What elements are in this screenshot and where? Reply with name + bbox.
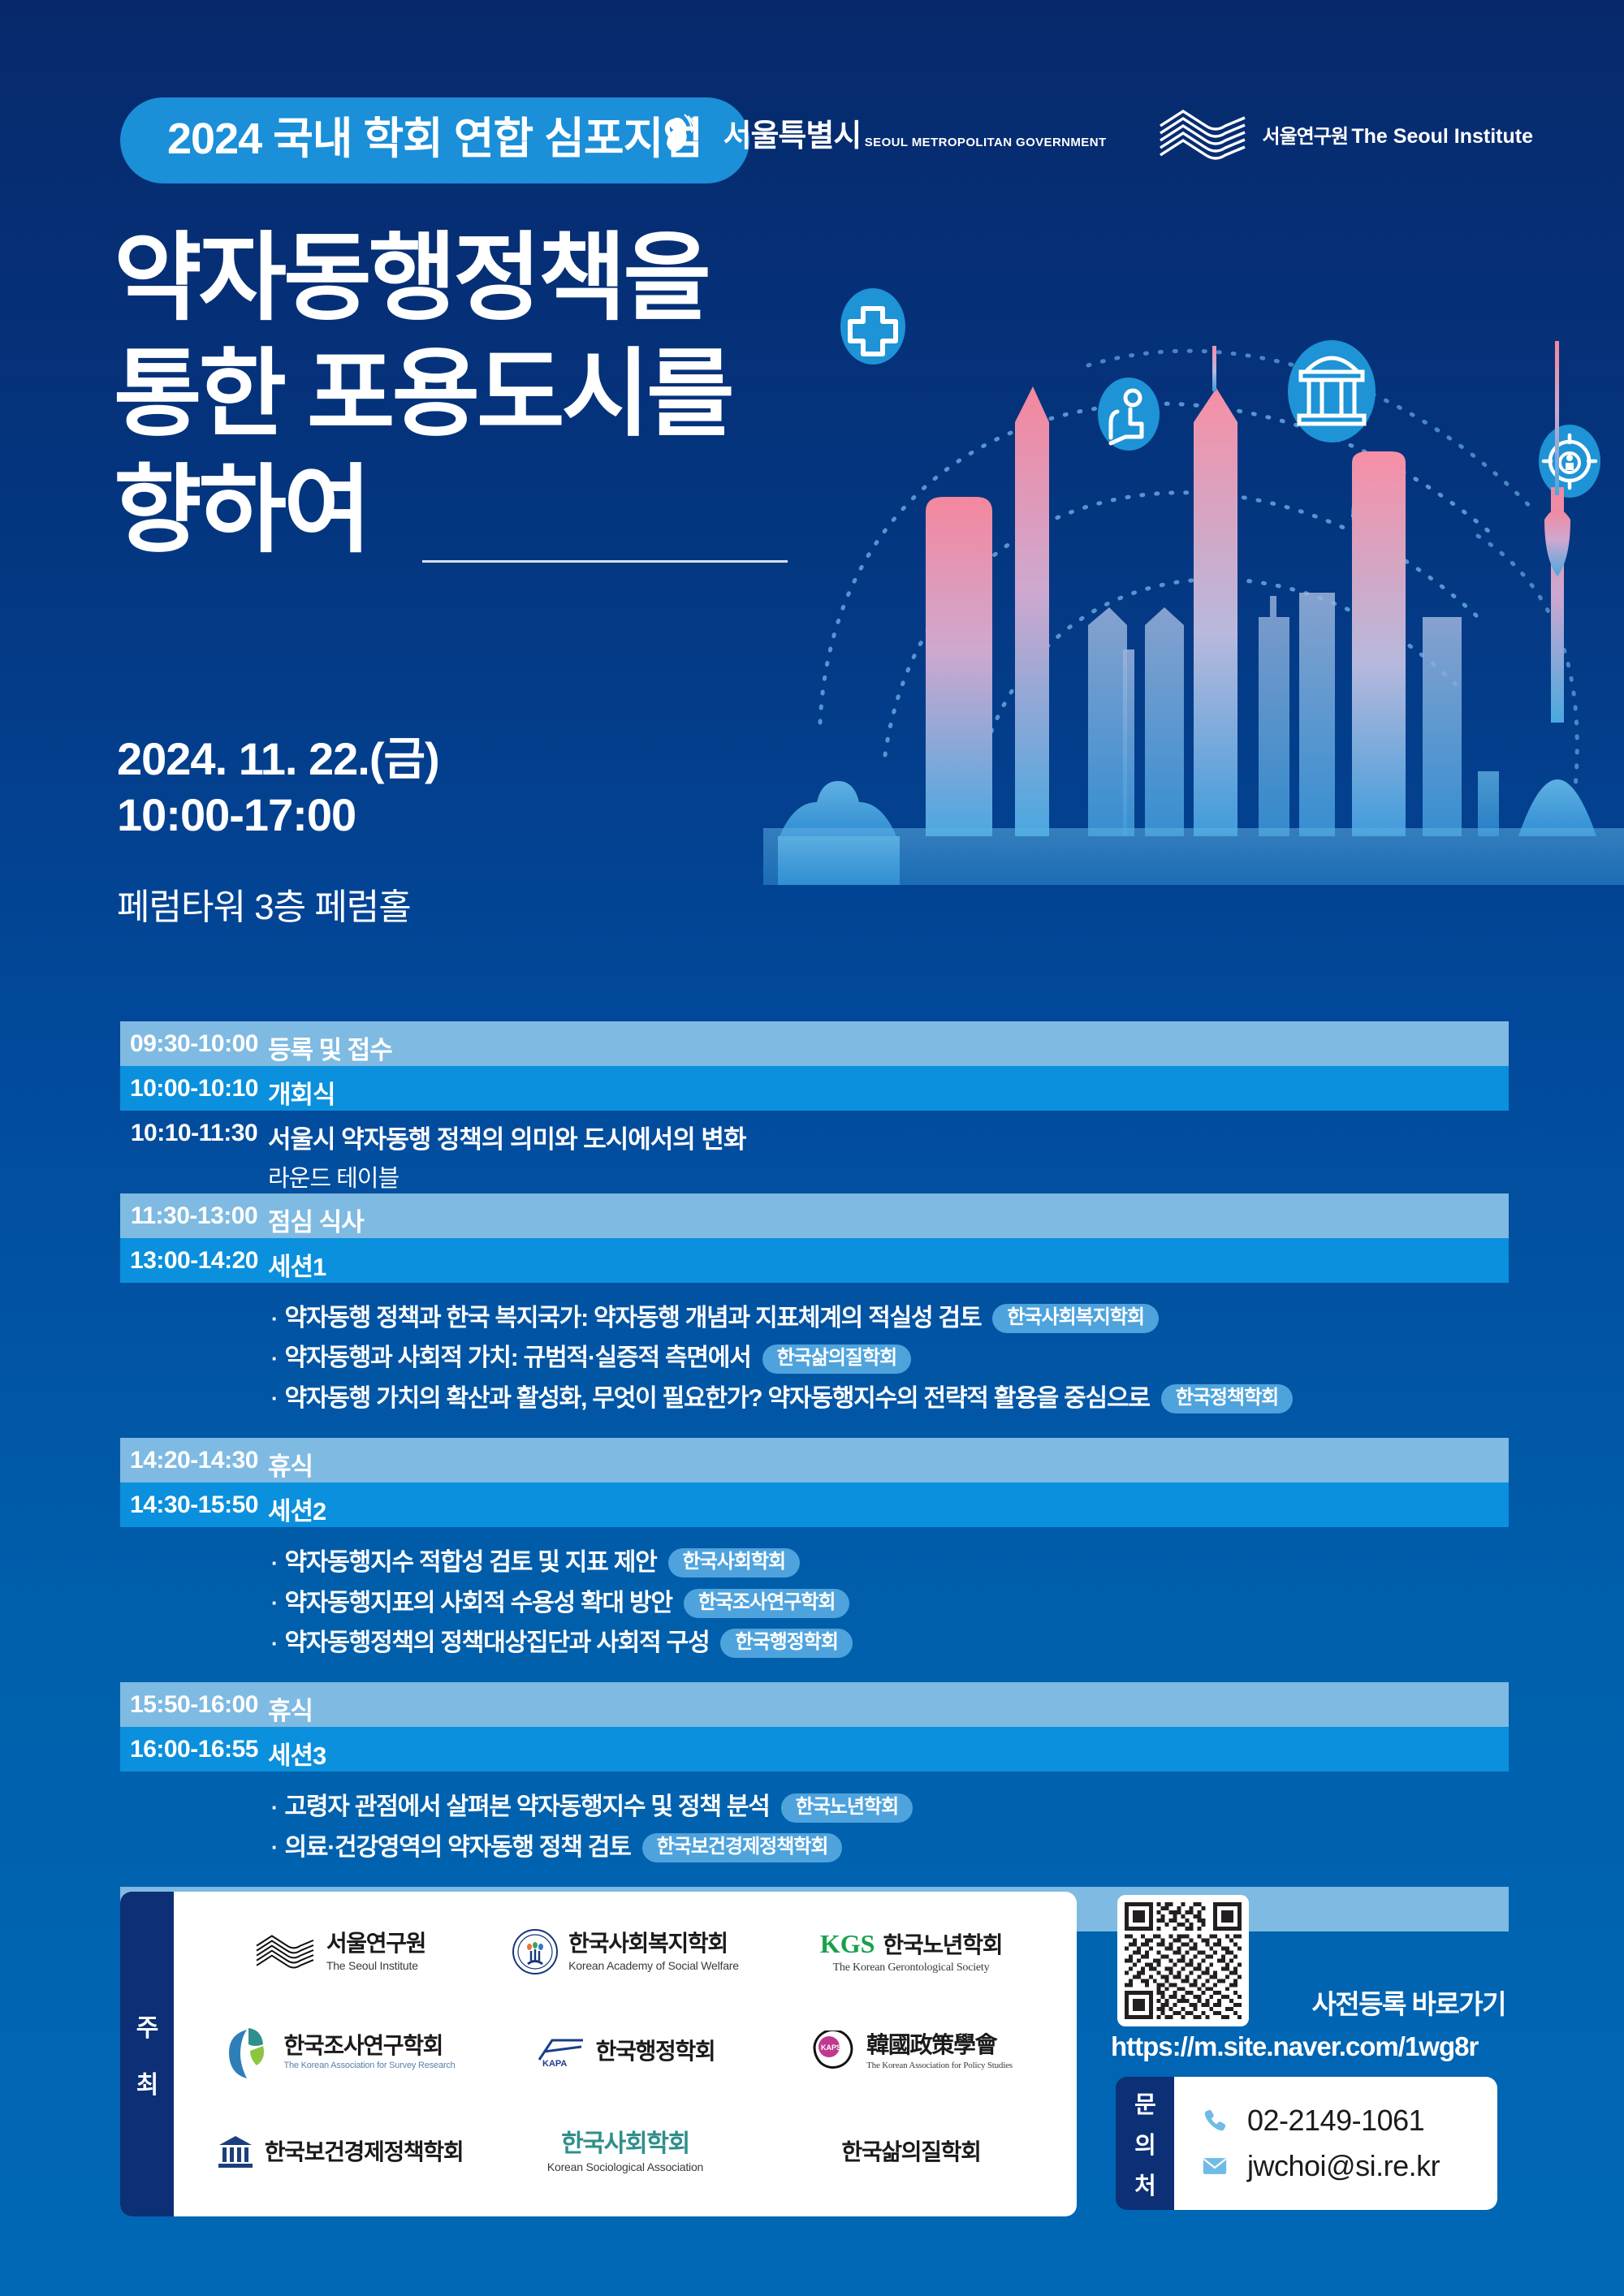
title-underline-rule [422, 560, 788, 563]
session-item-text: 의료·건강영역의 약자동행 정책 검토 [284, 1832, 630, 1863]
inquiry-phone: 02-2149-1061 [1247, 2104, 1424, 2138]
inquiry-email: jwchoi@si.re.kr [1247, 2149, 1440, 2183]
seoul-skyline [763, 341, 1624, 885]
event-badge: 2024 국내 학회 연합 심포지엄 [120, 97, 749, 183]
session-item: · 약자동행지표의 사회적 수용성 확대 방안 한국조사연구학회 [271, 1588, 1509, 1619]
session-item: · 약자동행지수 적합성 검토 및 지표 제안 한국사회학회 [271, 1547, 1509, 1578]
inquiry-card: 문 의 처 02-2149-1061 [1116, 2077, 1497, 2210]
svg-text:KAPA: KAPA [542, 2059, 567, 2068]
registration-url[interactable]: https://m.site.naver.com/1wg8r [1111, 2031, 1478, 2062]
org-names: KGS 한국노년학회 The Korean Gerontological Soc… [820, 1929, 1002, 1974]
org-name-kr: 한국행정학회 [596, 2039, 715, 2064]
svg-text:KAPS: KAPS [821, 2044, 841, 2052]
si-name-kr: 서울연구원 [1263, 126, 1348, 148]
schedule-row: 10:00-10:10 개회식 [120, 1066, 1509, 1111]
schedule-table: 09:30-10:00 등록 및 접수 10:00-10:10 개회식 10:1… [120, 1021, 1509, 1931]
bullet-dot: · [271, 1306, 277, 1332]
org-name-en: Korean Sociological Association [547, 2160, 703, 2173]
society-tag: 한국행정학회 [720, 1629, 852, 1658]
org-names: 한국사회복지학회 Korean Academy of Social Welfar… [568, 1931, 739, 1971]
row-time: 10:10-11:30 [120, 1111, 268, 1147]
org-names: 한국조사연구학회 The Korean Association for Surv… [283, 2033, 455, 2070]
org-name-kr: 서울연구원 [326, 1931, 425, 1956]
org-korean-quality-of-life: 한국삶의질학회 [841, 2139, 980, 2164]
org-kapa-korean-association-public-administration: KAPA 한국행정학회 [536, 2035, 715, 2068]
row-time: 11:30-13:00 [120, 1193, 268, 1230]
inquiry-email-line[interactable]: jwchoi@si.re.kr [1199, 2149, 1497, 2183]
smg-name-kr: 서울특별시 [723, 119, 862, 153]
logo-seoul-institute: 서울연구원 The Seoul Institute [1155, 108, 1533, 166]
bullet-dot: · [271, 1550, 277, 1577]
inquiry-label-char-2: 의 [1134, 2126, 1155, 2160]
session-item-text: 약자동행지수 적합성 검토 및 지표 제안 [284, 1547, 656, 1578]
org-name-kr: 韓國政策學會 [866, 2033, 996, 2058]
inquiry-label-char-1: 문 [1134, 2086, 1155, 2120]
session-item-text: 고령자 관점에서 살펴본 약자동행지수 및 정책 분석 [284, 1792, 769, 1823]
survey-research-petal-icon [223, 2023, 274, 2080]
session-item: · 고령자 관점에서 살펴본 약자동행지수 및 정책 분석 한국노년학회 [271, 1792, 1509, 1823]
org-name-en: The Korean Association for Survey Resear… [283, 2061, 455, 2070]
org-korean-gerontological-society: KGS 한국노년학회 The Korean Gerontological Soc… [820, 1929, 1002, 1974]
seoul-institute-wave-icon [253, 1929, 317, 1974]
session1-items: · 약자동행 정책과 한국 복지국가: 약자동행 개념과 지표체계의 적실성 검… [120, 1283, 1509, 1438]
session-item: · 약자동행정책의 정책대상집단과 사회적 구성 한국행정학회 [271, 1628, 1509, 1659]
org-seoul-institute: 서울연구원 The Seoul Institute [253, 1929, 425, 1974]
row-desc: 휴식 [268, 1682, 1509, 1727]
org-korean-association-survey-research: 한국조사연구학회 The Korean Association for Surv… [223, 2023, 455, 2080]
schedule-row-session3: 16:00-16:55 세션3 [120, 1727, 1509, 1772]
bullet-dot: · [271, 1590, 277, 1616]
icon-senior-care [1098, 378, 1160, 451]
host-label-char-2: 최 [136, 2065, 158, 2100]
smg-logo-text: 서울특별시 SEOUL METROPOLITAN GOVERNMENT [723, 121, 1107, 153]
row-desc: 등록 및 접수 [268, 1021, 1509, 1066]
org-name-en: Korean Academy of Social Welfare [568, 1959, 739, 1972]
bullet-dot: · [271, 1345, 277, 1372]
bullet-dot: · [271, 1630, 277, 1657]
host-organizations-card: 주 최 서울연구원 [120, 1892, 1077, 2216]
org-name-en: The Korean Gerontological Society [833, 1962, 990, 1974]
event-meta: 2024. 11. 22.(금) 10:00-17:00 페럼타워 3층 페럼홀 [117, 731, 439, 930]
inquiry-details: 02-2149-1061 jwchoi@si.re.kr [1174, 2077, 1497, 2210]
seoul-smg-icon [657, 108, 710, 166]
schedule-row-session2: 14:30-15:50 세션2 [120, 1482, 1509, 1527]
kaps-mark-icon: KAPS [810, 2031, 857, 2073]
icon-medical-cross [840, 288, 905, 365]
row-time: 14:30-15:50 [120, 1482, 268, 1519]
schedule-row: 14:20-14:30 휴식 [120, 1438, 1509, 1482]
row-desc: 서울시 약자동행 정책의 의미와 도시에서의 변화 [268, 1111, 745, 1155]
icon-government-building [1288, 340, 1376, 442]
inquiry-label-char-3: 처 [1134, 2167, 1155, 2201]
classical-building-icon [216, 2133, 255, 2170]
schedule-row: 10:10-11:30 서울시 약자동행 정책의 의미와 도시에서의 변화 라운… [120, 1111, 1509, 1193]
org-names: 한국삶의질학회 [841, 2139, 980, 2164]
bullet-dot: · [271, 1385, 277, 1412]
org-korean-academy-social-welfare: 한국사회복지학회 Korean Academy of Social Welfar… [512, 1928, 739, 1975]
event-venue: 페럼타워 3층 페럼홀 [117, 878, 439, 930]
host-logo-grid: 서울연구원 The Seoul Institute [174, 1892, 1077, 2216]
si-logo-text: 서울연구원 The Seoul Institute [1263, 125, 1533, 149]
row-desc: 세션2 [268, 1482, 1509, 1527]
bullet-dot: · [271, 1794, 277, 1821]
seoul-institute-wave-icon [1155, 108, 1250, 166]
org-name-en: The Seoul Institute [326, 1959, 418, 1972]
society-tag: 한국노년학회 [781, 1793, 913, 1823]
inquiry-label-tab: 문 의 처 [1116, 2077, 1174, 2210]
host-label-char-1: 주 [136, 2008, 158, 2044]
row-desc: 세션3 [268, 1727, 1509, 1772]
row-time: 13:00-14:20 [120, 1238, 268, 1275]
logo-seoul-metropolitan-government: 서울특별시 SEOUL METROPOLITAN GOVERNMENT [657, 108, 1107, 166]
contact-panel: 사전등록 바로가기 https://m.site.naver.com/1wg8r… [1111, 1892, 1509, 2216]
row-desc: 점심 식사 [268, 1193, 1509, 1238]
registration-label: 사전등록 바로가기 [1311, 1983, 1505, 2022]
org-name-kr: 한국조사연구학회 [283, 2033, 443, 2058]
session-item-text: 약자동행과 사회적 가치: 규범적·실증적 측면에서 [284, 1343, 750, 1374]
session-item-text: 약자동행정책의 정책대상집단과 사회적 구성 [284, 1628, 709, 1659]
event-date: 2024. 11. 22.(금) [117, 731, 439, 787]
kgs-acronym: KGS [820, 1929, 875, 1959]
row-subdesc: 라운드 테이블 [268, 1159, 745, 1193]
org-korean-health-economic-policy: 한국보건경제정책학회 [216, 2133, 464, 2170]
society-tag: 한국정책학회 [1161, 1384, 1293, 1413]
registration-qr-code[interactable] [1117, 1895, 1249, 2026]
session-item-text: 약자동행 가치의 확산과 활성화, 무엇이 필요한가? 약자동행지수의 전략적 … [284, 1383, 1149, 1414]
smg-name-en: SEOUL METROPOLITAN GOVERNMENT [865, 136, 1107, 149]
session3-items: · 고령자 관점에서 살펴본 약자동행지수 및 정책 분석 한국노년학회 · 의… [120, 1772, 1509, 1887]
footer: 주 최 서울연구원 [120, 1892, 1509, 2233]
si-name-en: The Seoul Institute [1351, 125, 1533, 148]
society-tag: 한국조사연구학회 [684, 1589, 850, 1618]
row-desc: 개회식 [268, 1066, 1509, 1111]
session-item: · 약자동행 정책과 한국 복지국가: 약자동행 개념과 지표체계의 적실성 검… [271, 1303, 1509, 1334]
session-item-text: 약자동행지표의 사회적 수용성 확대 방안 [284, 1588, 672, 1619]
society-tag: 한국삶의질학회 [762, 1344, 912, 1374]
org-name-en: The Korean Association for Policy Studie… [866, 2061, 1013, 2070]
icon-scales-justice [1351, 485, 1398, 542]
org-name-kr: 한국삶의질학회 [841, 2139, 980, 2164]
host-label-tab: 주 최 [120, 1892, 174, 2216]
session-item: · 약자동행 가치의 확산과 활성화, 무엇이 필요한가? 약자동행지수의 전략… [271, 1383, 1509, 1414]
schedule-row-session1: 13:00-14:20 세션1 [120, 1238, 1509, 1283]
schedule-row: 15:50-16:00 휴식 [120, 1682, 1509, 1727]
row-time: 16:00-16:55 [120, 1727, 268, 1763]
org-names: 서울연구원 The Seoul Institute [326, 1931, 425, 1971]
org-names: 한국행정학회 [596, 2039, 715, 2064]
session2-items: · 약자동행지수 적합성 검토 및 지표 제안 한국사회학회 · 약자동행지표의… [120, 1527, 1509, 1682]
city-illustration [763, 268, 1624, 885]
row-time: 10:00-10:10 [120, 1066, 268, 1103]
page-title: 약자동행정책을 통한 포용도시를 향하여 [114, 221, 732, 568]
org-names: 한국보건경제정책학회 [265, 2139, 464, 2164]
session-item: · 의료·건강영역의 약자동행 정책 검토 한국보건경제정책학회 [271, 1832, 1509, 1863]
row-time: 09:30-10:00 [120, 1021, 268, 1058]
phone-icon [1199, 2104, 1231, 2137]
session-item: · 약자동행과 사회적 가치: 규범적·실증적 측면에서 한국삶의질학회 [271, 1343, 1509, 1374]
org-name-kr: 한국보건경제정책학회 [265, 2139, 464, 2164]
row-time: 15:50-16:00 [120, 1682, 268, 1719]
kapa-mark-icon: KAPA [536, 2035, 586, 2068]
society-tag: 한국보건경제정책학회 [642, 1833, 843, 1862]
row-desc: 휴식 [268, 1438, 1509, 1482]
social-welfare-seal-icon [512, 1928, 559, 1975]
org-names: 韓國政策學會 The Korean Association for Policy… [866, 2033, 1013, 2070]
schedule-row: 11:30-13:00 점심 식사 [120, 1193, 1509, 1238]
org-name-kr: 한국사회학회 [561, 2130, 689, 2158]
session-item-text: 약자동행 정책과 한국 복지국가: 약자동행 개념과 지표체계의 적실성 검토 [284, 1303, 981, 1334]
org-korean-association-policy-studies: KAPS 韓國政策學會 The Korean Association for P… [810, 2031, 1013, 2073]
row-desc: 세션1 [268, 1238, 1509, 1283]
inquiry-phone-line[interactable]: 02-2149-1061 [1199, 2104, 1497, 2138]
org-names: 한국사회학회 Korean Sociological Association [547, 2130, 703, 2173]
society-tag: 한국사회복지학회 [992, 1304, 1159, 1333]
schedule-row: 09:30-10:00 등록 및 접수 [120, 1021, 1509, 1066]
envelope-icon [1199, 2150, 1231, 2182]
org-korean-sociological-association: 한국사회학회 Korean Sociological Association [547, 2130, 703, 2173]
partner-logos: 서울특별시 SEOUL METROPOLITAN GOVERNMENT 서울연구… [657, 108, 1533, 166]
org-name-kr: 한국사회복지학회 [568, 1931, 728, 1956]
row-time: 14:20-14:30 [120, 1438, 268, 1474]
org-name-kr: 한국노년학회 [883, 1932, 1002, 1957]
society-tag: 한국사회학회 [668, 1548, 800, 1577]
icon-target-person [1539, 425, 1600, 498]
event-time: 10:00-17:00 [117, 787, 439, 843]
bullet-dot: · [271, 1834, 277, 1861]
